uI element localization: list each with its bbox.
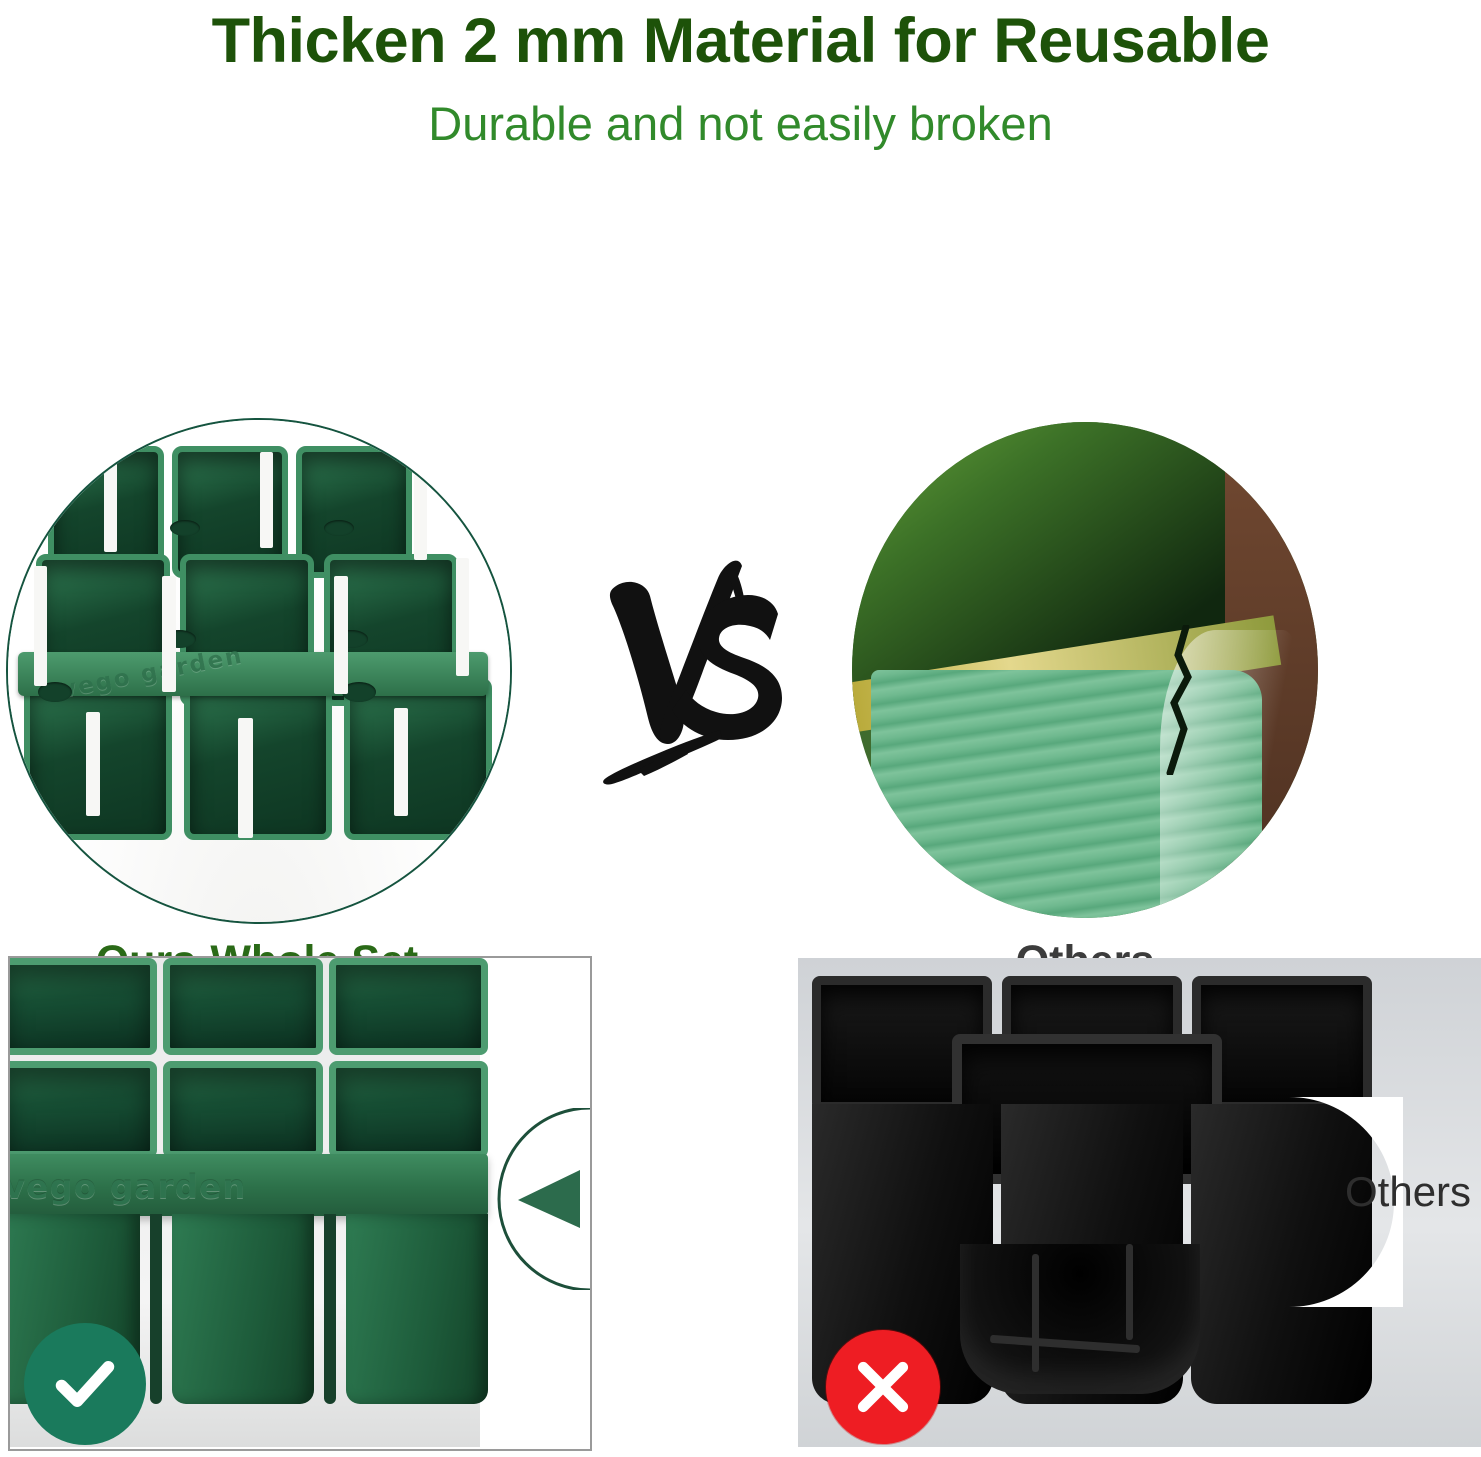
brand-band: vego garden [8, 1154, 488, 1216]
page-subtitle: Durable and not easily broken [0, 94, 1481, 154]
check-icon [24, 1323, 146, 1445]
crack-icon [1156, 625, 1206, 775]
bottom-comparison-row: vego garden [0, 948, 1481, 1457]
ours-tray-artwork: vego garden [8, 420, 510, 922]
x-icon [826, 1330, 940, 1444]
tray-top-cells [8, 958, 488, 1158]
top-comparison-row: vego garden [0, 200, 1481, 930]
ours-product-photo: vego garden [6, 418, 512, 924]
damaged-cell [960, 1244, 1200, 1394]
vs-brush-mark-icon [592, 548, 788, 788]
others-product-photo [852, 422, 1318, 918]
tray-body: vego garden [42, 446, 482, 796]
brand-emboss: vego garden [8, 1168, 247, 1206]
others-panel-label: Others [1345, 1168, 1471, 1216]
page-title: Thicken 2 mm Material for Reusable [0, 2, 1481, 80]
connector-notch-left [494, 1108, 594, 1290]
cracked-pot-artwork [852, 422, 1318, 918]
